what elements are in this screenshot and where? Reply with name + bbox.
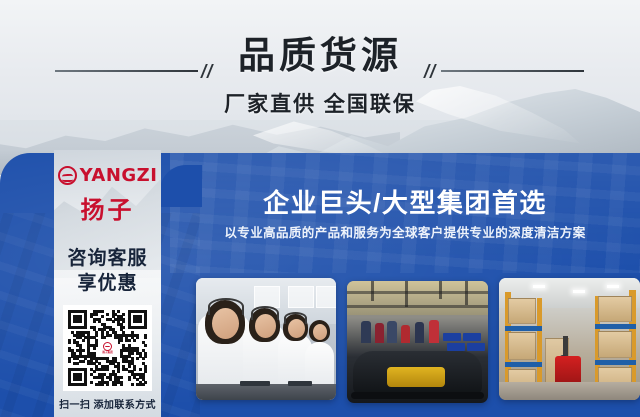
qr-code-matrix: 扬子集团 [68, 310, 147, 386]
warehouse-forklift-photo[interactable] [499, 278, 640, 400]
main-title: 企业巨头/大型集团首选 [170, 183, 640, 220]
qr-code[interactable]: 扬子集团 [63, 305, 152, 391]
cta-line-1: 咨询客服 [54, 243, 161, 270]
cta-line-2: 享优惠 [54, 268, 161, 295]
brand-logo: YANGZI [54, 166, 161, 185]
automotive-assembly-line-photo[interactable] [347, 281, 488, 403]
hero-title: 品质货源 [0, 36, 640, 76]
photo-strip [196, 276, 640, 403]
customer-service-team-photo[interactable] [196, 278, 336, 400]
hero-subtitle: 厂家直供 全国联保 [0, 88, 640, 118]
main-subtitle: 以专业高品质的产品和服务为全球客户提供专业的深度清洁方案 [170, 222, 640, 241]
promo-banner: 品质货源 厂家直供 全国联保 YANGZI 扬子 咨询客服 享优惠 扬子集团 [0, 0, 640, 417]
qr-caption: 扫一扫 添加联系方式 [54, 396, 161, 411]
qr-badge-text: 扬子集团 [102, 351, 112, 354]
yangzi-emblem-icon [58, 166, 77, 185]
brand-wordmark: YANGZI [80, 167, 158, 185]
contact-card[interactable]: YANGZI 扬子 咨询客服 享优惠 扬子集团 扫一扫 添加联系方式 [54, 150, 161, 417]
brand-name-cn: 扬子 [54, 190, 161, 225]
qr-center-logo-icon: 扬子集团 [98, 339, 118, 357]
